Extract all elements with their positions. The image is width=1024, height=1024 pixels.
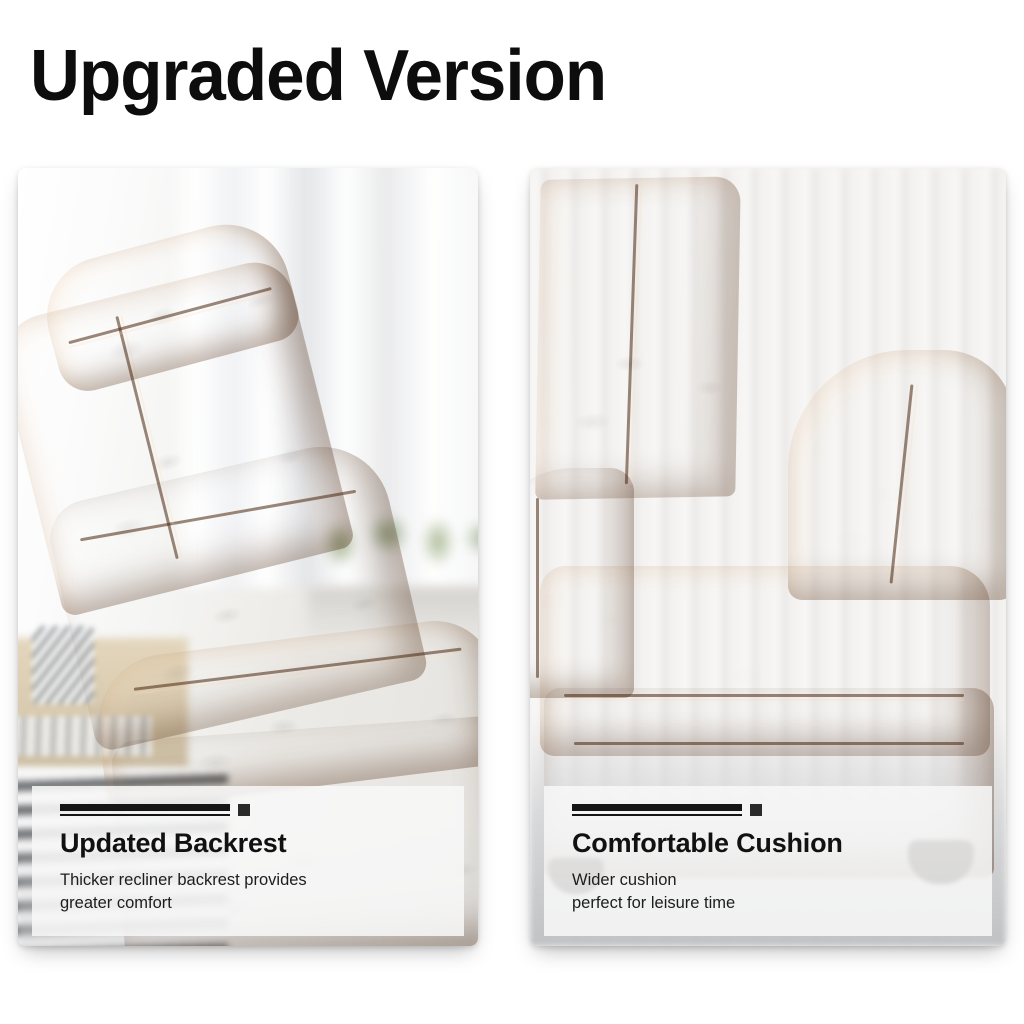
product-photo-right: Comfortable Cushion Wider cushion perfec…: [530, 168, 1006, 946]
feature-panel-right: Comfortable Cushion Wider cushion perfec…: [530, 168, 1006, 946]
caption-title-right: Comfortable Cushion: [572, 828, 970, 859]
decorative-rule: [60, 804, 442, 818]
product-feature-graphic: Upgraded Version: [0, 0, 1024, 1024]
chair-arm-right: [788, 350, 1006, 600]
caption-line: perfect for leisure time: [572, 892, 970, 914]
caption-line: greater comfort: [60, 892, 442, 914]
caption-card-left: Updated Backrest Thicker recliner backre…: [32, 786, 464, 936]
caption-line: Thicker recliner backrest provides: [60, 869, 442, 891]
decorative-rule: [572, 804, 970, 818]
caption-body-right: Wider cushion perfect for leisure time: [572, 869, 970, 914]
chair-arm-left-right-panel: [530, 468, 634, 698]
caption-line: Wider cushion: [572, 869, 970, 891]
caption-card-right: Comfortable Cushion Wider cushion perfec…: [544, 786, 992, 936]
feature-panel-left: Updated Backrest Thicker recliner backre…: [18, 168, 478, 946]
page-title: Upgraded Version: [30, 40, 606, 112]
caption-body-left: Thicker recliner backrest provides great…: [60, 869, 442, 914]
chair-backrest-right: [535, 176, 741, 499]
caption-title-left: Updated Backrest: [60, 828, 442, 859]
product-photo-left: Updated Backrest Thicker recliner backre…: [18, 168, 478, 946]
